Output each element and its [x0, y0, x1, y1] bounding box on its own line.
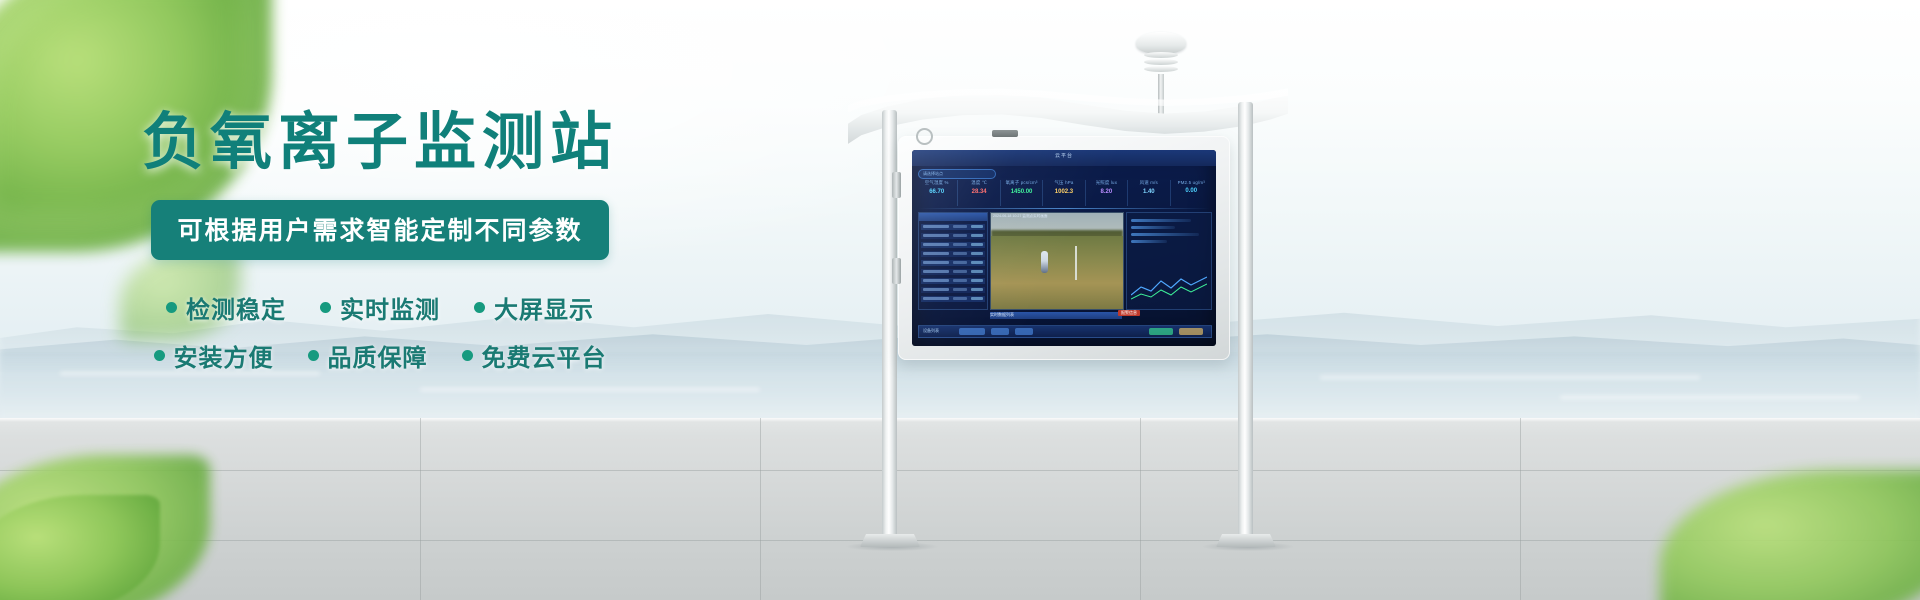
- device-cell: [971, 225, 983, 228]
- device-row[interactable]: [921, 251, 985, 257]
- metric-value: 66.70: [916, 189, 957, 195]
- device-cell: [923, 297, 949, 300]
- sensor-radiation-shield: [1136, 32, 1186, 54]
- feature-row: 检测稳定 实时监测 大屏显示: [0, 290, 760, 325]
- metric-label: PM2.5 ug/m³: [1171, 180, 1212, 185]
- camera-person: [1041, 251, 1048, 273]
- water-streak: [1320, 376, 1700, 379]
- feature-item: 品质保障: [308, 338, 428, 373]
- device-row[interactable]: [921, 242, 985, 248]
- metric-label: 气压 hPa: [1043, 180, 1084, 186]
- chart-bar: [1131, 226, 1175, 229]
- bottom-bar-label: 设备列表: [923, 328, 939, 334]
- device-list-panel[interactable]: [918, 212, 988, 310]
- cabinet-ring-icon: [916, 128, 933, 145]
- ground-seam: [1520, 418, 1521, 600]
- bullet-dot-icon: [308, 350, 319, 361]
- bullet-dot-icon: [320, 302, 331, 313]
- kiosk-base-left: [860, 534, 920, 547]
- device-cell: [923, 243, 949, 246]
- feature-label: 免费云平台: [482, 338, 607, 373]
- metric-value: 1002.3: [1043, 189, 1084, 195]
- device-cell: [923, 225, 949, 228]
- device-cell: [953, 252, 967, 255]
- dashboard-screen[interactable]: 云平台 请选择站点 空气湿度 % 66.70 温度 ℃ 28.34 氧离子 pc…: [912, 150, 1216, 346]
- feature-item: 大屏显示: [474, 290, 594, 325]
- metric-strip: 空气湿度 % 66.70 温度 ℃ 28.34 氧离子 pcs/cm³ 1450…: [916, 180, 1212, 206]
- cabinet-hinge: [892, 258, 901, 284]
- device-cell: [953, 234, 967, 237]
- metric-card: 温度 ℃ 28.34: [958, 180, 1000, 206]
- metric-value: 8.20: [1086, 189, 1127, 195]
- metric-card: 氧离子 pcs/cm³ 1450.00: [1001, 180, 1043, 206]
- water-streak: [420, 388, 760, 391]
- site-search-input[interactable]: 请选择站点: [918, 169, 996, 179]
- device-cell: [923, 252, 949, 255]
- device-cell: [971, 279, 983, 282]
- kiosk-base-right: [1216, 534, 1276, 547]
- weather-sensor-icon: [1132, 30, 1190, 92]
- feature-label: 检测稳定: [186, 290, 286, 325]
- leaf-decoration-bottom-left-sharp: [0, 495, 160, 600]
- filter-chip[interactable]: [991, 328, 1009, 335]
- camera-station-post: [1075, 246, 1077, 280]
- device-cell: [971, 252, 983, 255]
- device-row[interactable]: [921, 269, 985, 275]
- chart-bar: [1131, 233, 1199, 236]
- metric-card: 空气湿度 % 66.70: [916, 180, 958, 206]
- feature-label: 安装方便: [174, 338, 274, 373]
- device-cell: [923, 234, 949, 237]
- device-cell: [953, 270, 967, 273]
- filter-chip[interactable]: [959, 328, 985, 335]
- device-cell: [971, 270, 983, 273]
- sensor-ring: [1144, 52, 1178, 58]
- trend-chart-panel[interactable]: [1126, 212, 1212, 310]
- device-cell: [953, 261, 967, 264]
- subtitle-pill: 可根据用户需求智能定制不同参数: [151, 200, 608, 260]
- alarm-badge[interactable]: 报警信息: [1118, 310, 1140, 316]
- metric-label: 氧离子 pcs/cm³: [1001, 180, 1042, 186]
- device-cell: [953, 225, 967, 228]
- kiosk-post-right: [1238, 102, 1253, 540]
- camera-feed-panel[interactable]: 2024-06-18 10:27 监测点实时画面: [990, 212, 1124, 310]
- cabinet-hinge: [892, 172, 901, 198]
- device-cell: [953, 243, 967, 246]
- screen-divider: [918, 208, 1210, 209]
- data-table-header: 实时数据列表: [990, 312, 1122, 319]
- device-cell: [923, 261, 949, 264]
- device-row[interactable]: [921, 296, 985, 302]
- bullet-dot-icon: [166, 302, 177, 313]
- status-chip[interactable]: [1149, 328, 1173, 335]
- metric-label: 光照度 lux: [1086, 180, 1127, 186]
- device-cell: [971, 288, 983, 291]
- bullet-dot-icon: [462, 350, 473, 361]
- device-cell: [971, 234, 983, 237]
- device-row[interactable]: [921, 224, 985, 230]
- device-row[interactable]: [921, 278, 985, 284]
- filter-chip[interactable]: [1015, 328, 1033, 335]
- device-cell: [923, 270, 949, 273]
- bullet-dot-icon: [154, 350, 165, 361]
- site-search-placeholder: 请选择站点: [923, 171, 943, 177]
- metric-value: 0.00: [1171, 188, 1212, 194]
- device-cell: [971, 297, 983, 300]
- ground-seam: [760, 418, 761, 600]
- device-cell: [923, 279, 949, 282]
- device-cell: [971, 261, 983, 264]
- metric-card: 风速 m/s 1.40: [1128, 180, 1170, 206]
- camera-field: [991, 236, 1123, 309]
- chart-bar: [1131, 240, 1167, 243]
- metric-label: 空气湿度 %: [916, 180, 957, 186]
- page-title: 负氧离子监测站: [0, 112, 760, 174]
- cabinet-latch: [992, 130, 1018, 137]
- sparkline-chart: [1131, 273, 1207, 303]
- promo-banner: 负氧离子监测站 可根据用户需求智能定制不同参数 检测稳定 实时监测 大屏显示: [0, 0, 1920, 600]
- feature-item: 安装方便: [154, 338, 274, 373]
- metric-value: 1.40: [1128, 189, 1169, 195]
- device-row[interactable]: [921, 260, 985, 266]
- metric-label: 温度 ℃: [958, 180, 999, 186]
- ground-seam: [420, 418, 421, 600]
- metric-card: PM2.5 ug/m³ 0.00: [1171, 180, 1212, 206]
- screen-title: 云平台: [912, 152, 1216, 159]
- feature-label: 品质保障: [328, 338, 428, 373]
- device-cell: [953, 297, 967, 300]
- device-cell: [971, 243, 983, 246]
- device-cell: [953, 279, 967, 282]
- device-cell: [923, 288, 949, 291]
- feature-list: 检测稳定 实时监测 大屏显示 安装方便 品质保障: [0, 290, 760, 373]
- water-streak: [1560, 396, 1860, 399]
- metric-value: 28.34: [958, 189, 999, 195]
- feature-item: 免费云平台: [462, 338, 607, 373]
- metric-card: 光照度 lux 8.20: [1086, 180, 1128, 206]
- device-list-header: [919, 213, 987, 221]
- feature-label: 大屏显示: [494, 290, 594, 325]
- feature-item: 实时监测: [320, 290, 440, 325]
- screen-bottom-bar: 设备列表: [918, 325, 1212, 338]
- bullet-dot-icon: [474, 302, 485, 313]
- device-row[interactable]: [921, 233, 985, 239]
- metric-label: 风速 m/s: [1128, 180, 1169, 186]
- camera-timestamp: 2024-06-18 10:27 监测点实时画面: [993, 214, 1048, 219]
- metric-value: 1450.00: [1001, 189, 1042, 195]
- metric-card: 气压 hPa 1002.3: [1043, 180, 1085, 206]
- monitoring-station-kiosk: 云平台 请选择站点 空气湿度 % 66.70 温度 ℃ 28.34 氧离子 pc…: [840, 30, 1300, 590]
- chart-bar: [1131, 219, 1191, 222]
- feature-row: 安装方便 品质保障 免费云平台: [0, 338, 760, 373]
- device-cell: [953, 288, 967, 291]
- feature-item: 检测稳定: [166, 290, 286, 325]
- marketing-copy: 负氧离子监测站 可根据用户需求智能定制不同参数 检测稳定 实时监测 大屏显示: [0, 112, 760, 386]
- feature-label: 实时监测: [340, 290, 440, 325]
- device-row[interactable]: [921, 287, 985, 293]
- sensor-ring: [1144, 66, 1178, 72]
- status-chip[interactable]: [1179, 328, 1203, 335]
- sensor-ring: [1144, 59, 1178, 65]
